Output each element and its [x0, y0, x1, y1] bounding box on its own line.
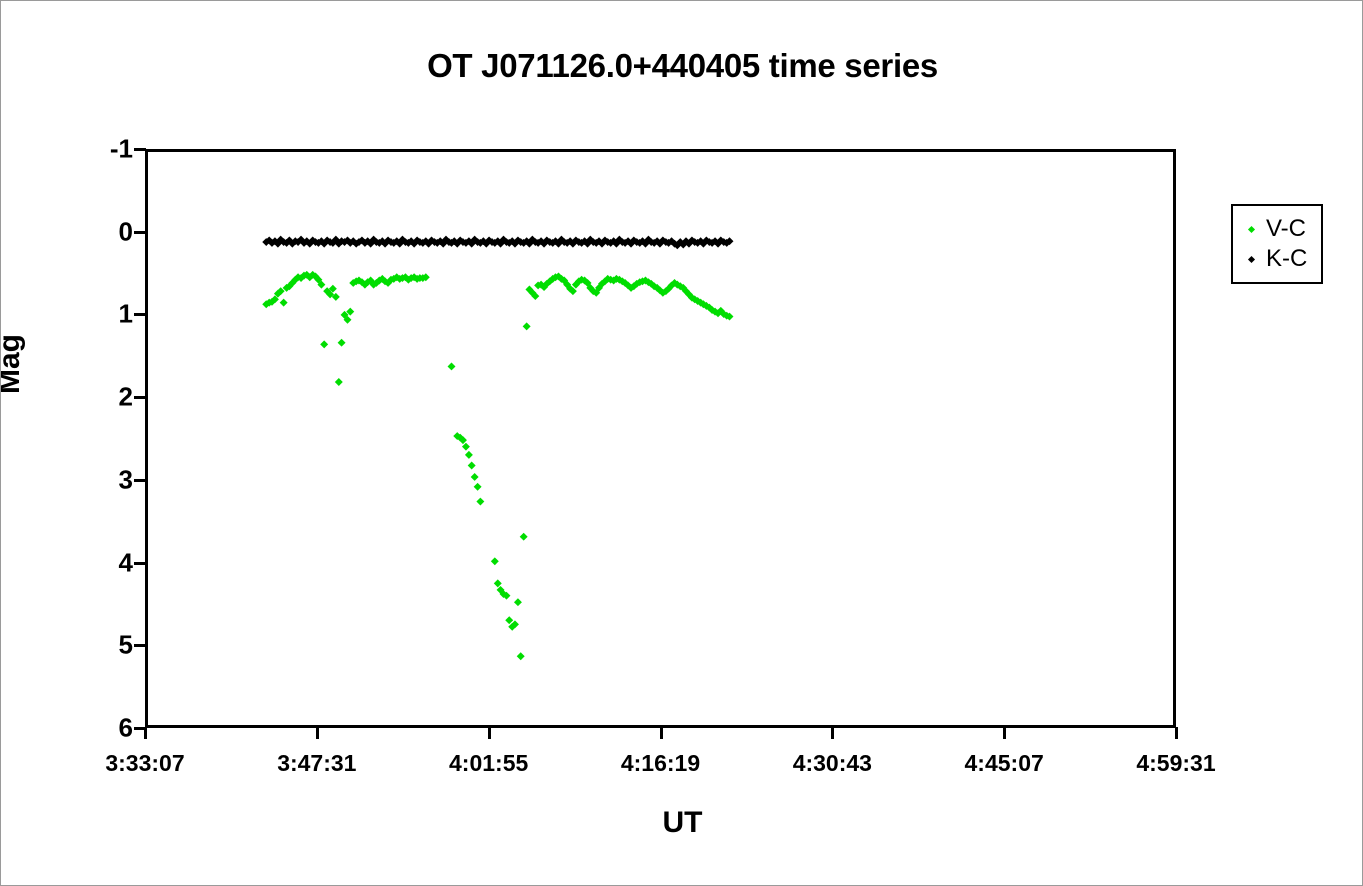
legend-label-k-c: K-C — [1266, 245, 1307, 273]
legend-marker-v-c — [1243, 221, 1259, 237]
y-tick-label: 4 — [63, 547, 133, 578]
data-point — [523, 322, 531, 330]
data-point — [505, 616, 513, 624]
data-point — [471, 473, 479, 481]
y-tick-label: 6 — [63, 713, 133, 744]
data-point — [520, 533, 528, 541]
legend-marker-k-c — [1243, 251, 1259, 267]
data-point — [491, 557, 499, 565]
data-point — [280, 299, 288, 307]
chart-title: OT J071126.0+440405 time series — [1, 47, 1363, 85]
x-tick-label: 4:30:43 — [742, 750, 922, 777]
legend-label-v-c: V-C — [1266, 215, 1306, 243]
data-point — [335, 378, 343, 386]
data-point — [448, 363, 456, 371]
y-tick-mark — [134, 396, 146, 399]
data-point — [517, 652, 525, 660]
x-tick-label: 4:01:55 — [399, 750, 579, 777]
x-tick-mark — [1003, 727, 1006, 739]
data-point — [474, 483, 482, 491]
x-tick-mark — [1175, 727, 1178, 739]
y-tick-mark — [134, 479, 146, 482]
y-tick-mark — [134, 313, 146, 316]
y-tick-label: 5 — [63, 630, 133, 661]
x-tick-label: 3:47:31 — [227, 750, 407, 777]
y-tick-mark — [134, 148, 146, 151]
data-series-layer — [148, 152, 1173, 725]
x-tick-label: 3:33:07 — [55, 750, 235, 777]
data-point — [320, 340, 328, 348]
data-point — [476, 498, 484, 506]
legend-item-k-c: K-C — [1243, 244, 1307, 274]
plot-area — [145, 149, 1176, 728]
y-tick-label: 1 — [63, 299, 133, 330]
data-point — [514, 598, 522, 606]
data-point — [468, 462, 476, 470]
x-tick-mark — [831, 727, 834, 739]
data-point — [338, 339, 346, 347]
legend-item-v-c: V-C — [1243, 214, 1307, 244]
x-tick-mark — [316, 727, 319, 739]
x-tick-mark — [144, 727, 147, 739]
x-tick-label: 4:16:19 — [571, 750, 751, 777]
data-point — [465, 451, 473, 459]
y-tick-label: 0 — [63, 216, 133, 247]
y-axis-label: Mag — [0, 334, 27, 394]
chart-legend: V-C K-C — [1231, 204, 1323, 284]
y-tick-mark — [134, 562, 146, 565]
x-tick-label: 4:59:31 — [1086, 750, 1266, 777]
y-tick-label: -1 — [63, 134, 133, 165]
y-tick-mark — [134, 644, 146, 647]
x-tick-mark — [488, 727, 491, 739]
y-tick-mark — [134, 231, 146, 234]
series-k-c — [262, 236, 733, 250]
y-tick-label: 2 — [63, 382, 133, 413]
y-tick-label: 3 — [63, 464, 133, 495]
data-point — [462, 443, 470, 451]
series-v-c — [262, 271, 733, 660]
x-tick-mark — [660, 727, 663, 739]
x-axis-label: UT — [1, 806, 1363, 840]
chart-figure: OT J071126.0+440405 time series -1012345… — [0, 0, 1363, 886]
x-tick-label: 4:45:07 — [914, 750, 1094, 777]
